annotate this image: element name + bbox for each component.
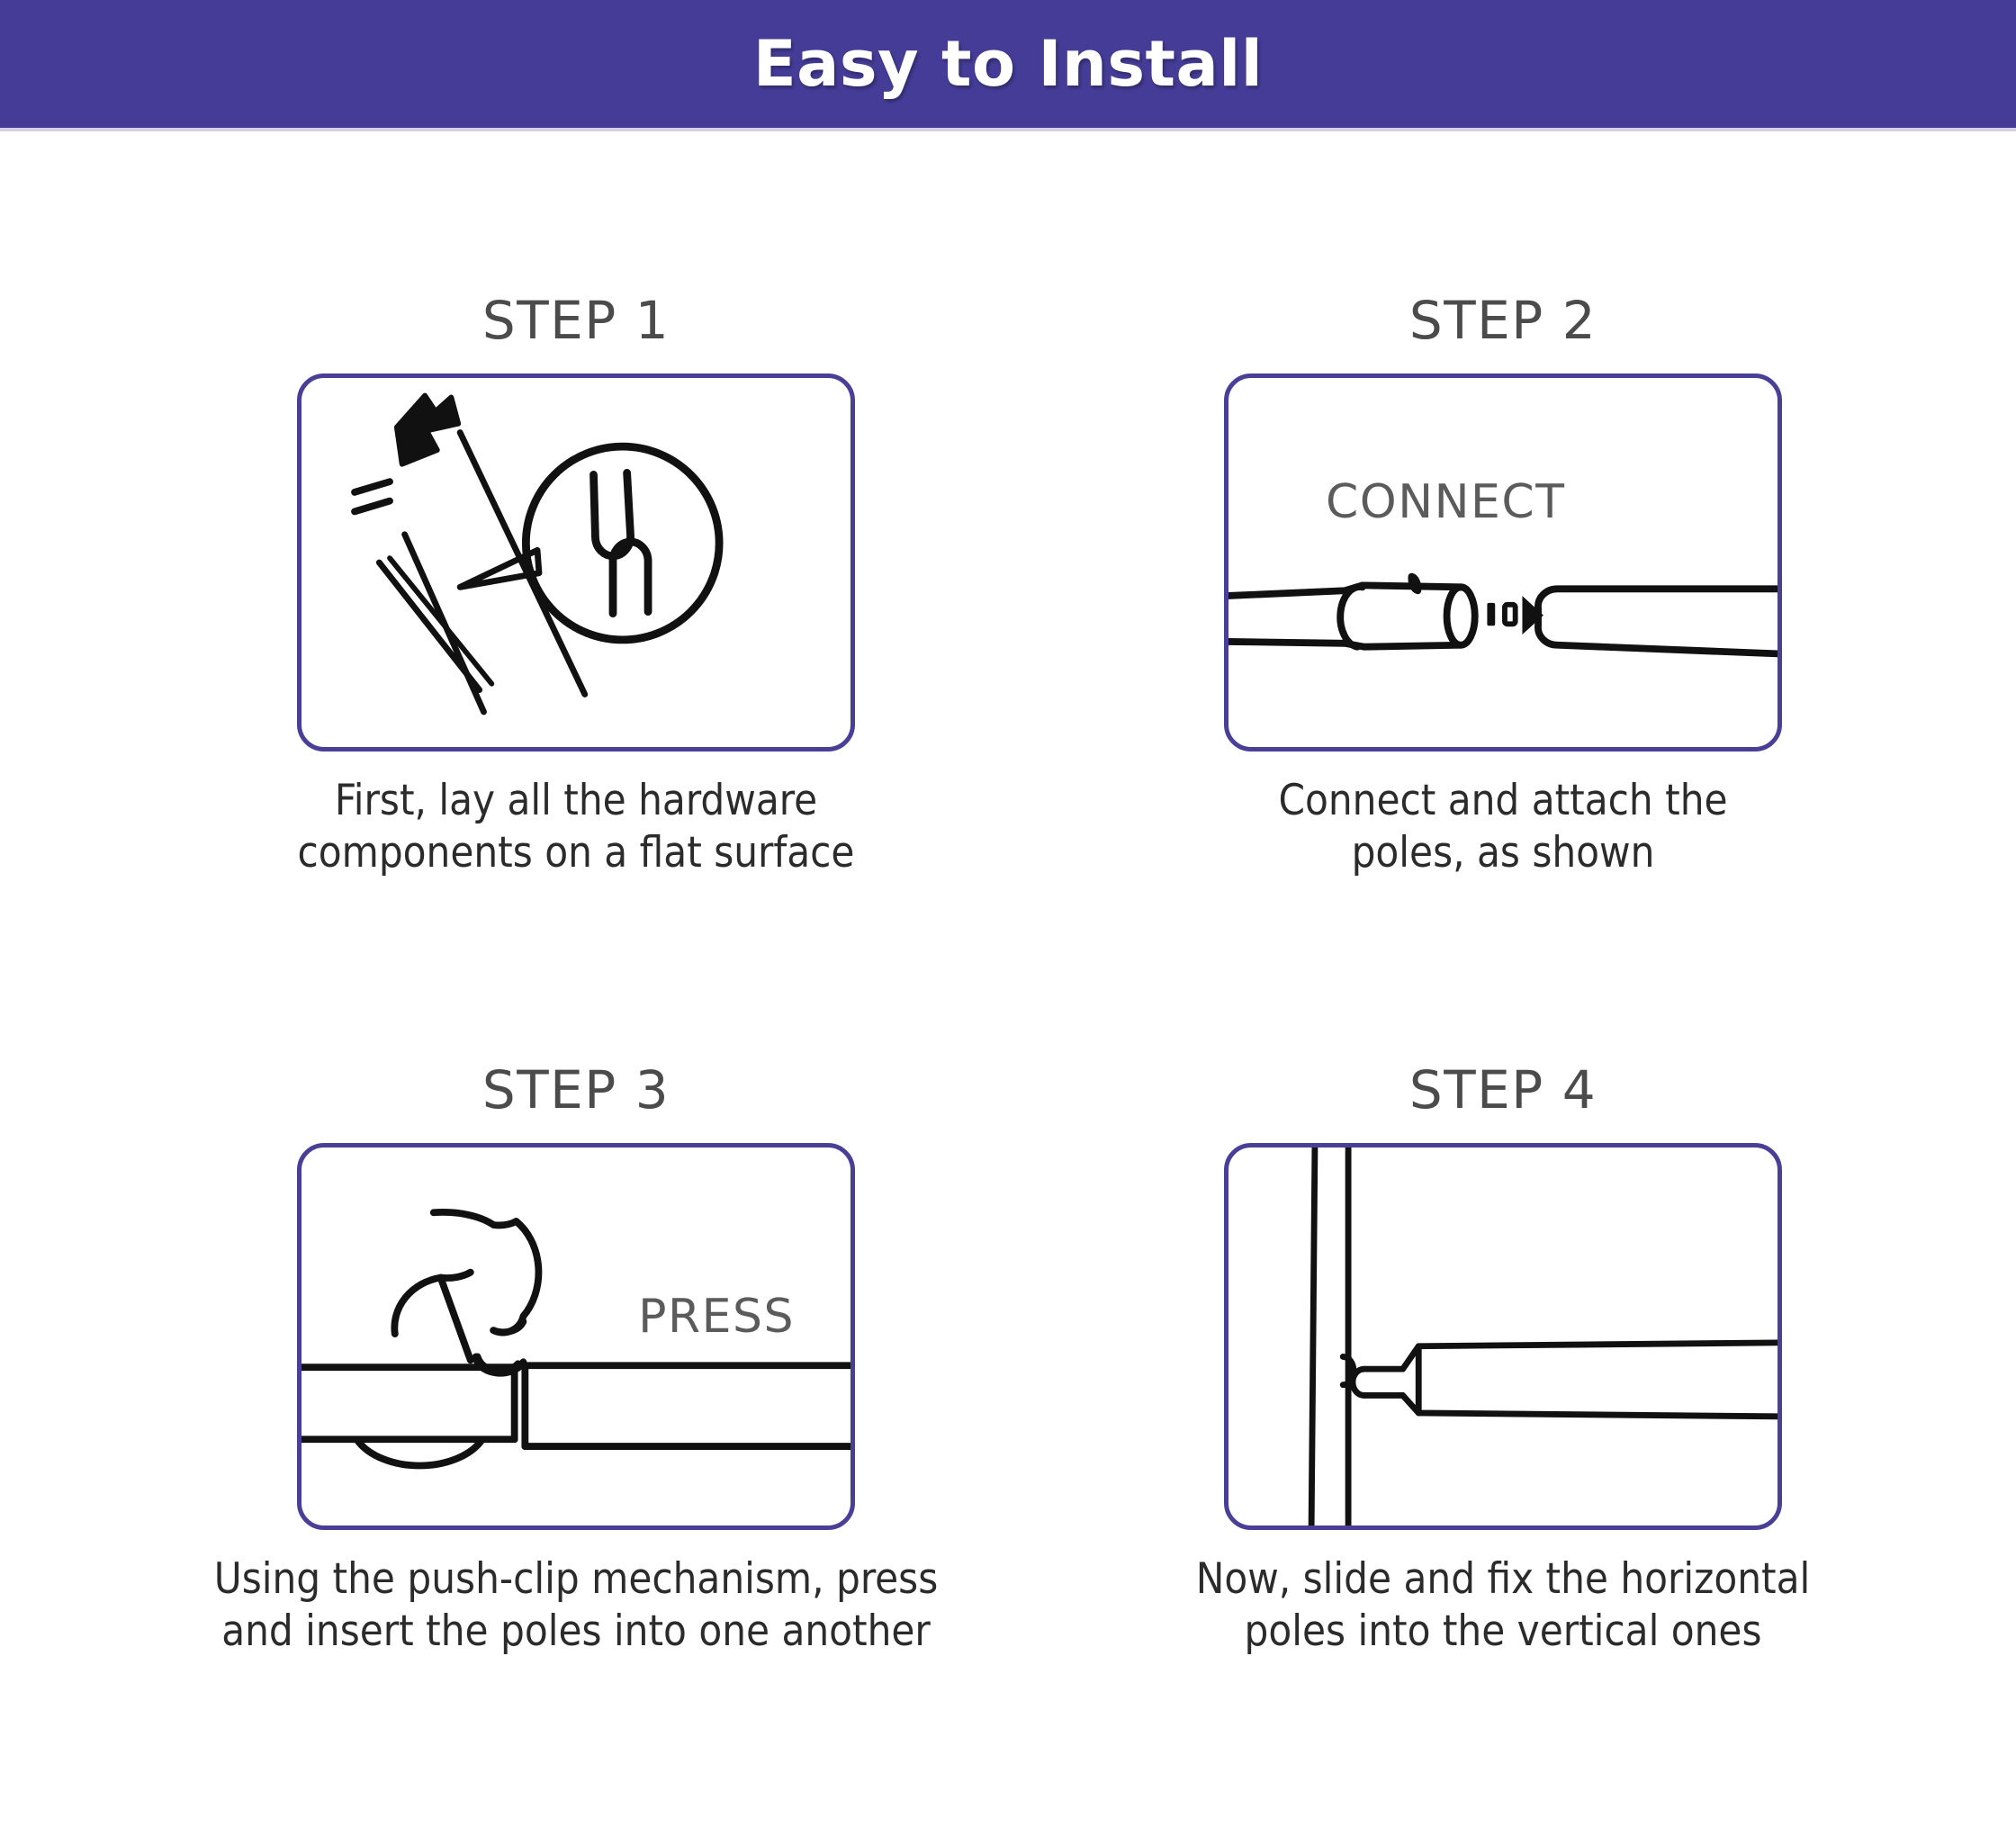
step-caption-2: Connect and attach the poles, as shown [1053,775,1953,880]
step-illustration-3: PRESS [297,1143,855,1530]
header-banner: Easy to Install [0,0,2016,128]
caption-line-2: components on a flat surface [126,827,1026,879]
step-caption-1: First, lay all the hardware components o… [126,775,1026,880]
caption-line-1: Now, slide and fix the horizontal [1053,1553,1953,1606]
steps-grid: STEP 1 [0,131,2016,1836]
caption-line-2: poles into the vertical ones [1053,1606,1953,1658]
step-caption-3: Using the push-clip mechanism, press and… [126,1553,1026,1659]
caption-line-2: and insert the poles into one another [126,1606,1026,1658]
step-illustration-1 [297,373,855,751]
connect-text: CONNECT [1326,475,1565,529]
step-card-3: STEP 3 PRESS [108,1063,1044,1658]
step-card-4: STEP 4 [1035,1063,1971,1658]
caption-line-1: Using the push-clip mechanism, press [126,1553,1026,1606]
press-text: PRESS [638,1290,795,1344]
install-instructions-page: Easy to Install STEP 1 [0,0,2016,1836]
step-label-3: STEP 3 [108,1063,1044,1118]
step-card-1: STEP 1 [108,293,1044,879]
caption-line-1: Connect and attach the [1053,775,1953,827]
caption-line-1: First, lay all the hardware [126,775,1026,827]
step-caption-4: Now, slide and fix the horizontal poles … [1053,1553,1953,1659]
step-illustration-2: CONNECT [1224,373,1782,751]
step-card-2: STEP 2 CONNECT [1035,293,1971,879]
step-label-4: STEP 4 [1035,1063,1971,1118]
direction-arrow-icon [397,395,458,463]
caption-line-2: poles, as shown [1053,827,1953,879]
step-illustration-4 [1224,1143,1782,1530]
step-label-2: STEP 2 [1035,293,1971,348]
step-label-1: STEP 1 [108,293,1044,348]
page-title: Easy to Install [753,32,1263,95]
